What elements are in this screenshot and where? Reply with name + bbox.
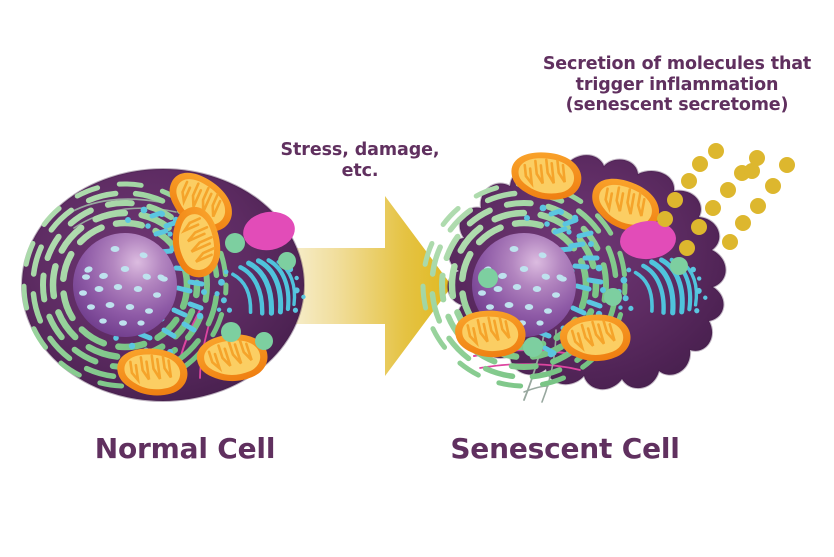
secretome-dot [779,157,795,173]
normal-cell-nucleus [73,233,177,337]
secretome-label-line1: Secretion of molecules that [527,54,827,75]
normal-cell [22,166,309,401]
secretome-dot [750,198,766,214]
secretome-dot [744,163,760,179]
secretome-dot [722,234,738,250]
secretome-label-line3: (senescent secretome) [527,95,827,116]
senescent-cell-label: Senescent Cell [405,432,725,465]
secretome-dot [735,215,751,231]
secretome-dot [681,173,697,189]
senescent-cell [423,148,726,402]
secretome-dot [657,211,673,227]
transition-arrow [292,196,452,376]
secretome-dot [679,240,695,256]
secretome-dot [765,178,781,194]
secretome-dot [692,156,708,172]
stress-label: Stress, damage, etc. [265,140,455,181]
secretome-label-line2: trigger inflammation [527,75,827,96]
secretome-dot [708,143,724,159]
secretome-dot [691,219,707,235]
diagram-canvas: Stress, damage, etc. Secretion of molecu… [0,0,834,557]
secretome-dot [705,200,721,216]
secretome-dot [720,182,736,198]
secretome-label: Secretion of molecules that trigger infl… [527,54,827,116]
secretome-dot [667,192,683,208]
normal-cell-label: Normal Cell [40,432,330,465]
